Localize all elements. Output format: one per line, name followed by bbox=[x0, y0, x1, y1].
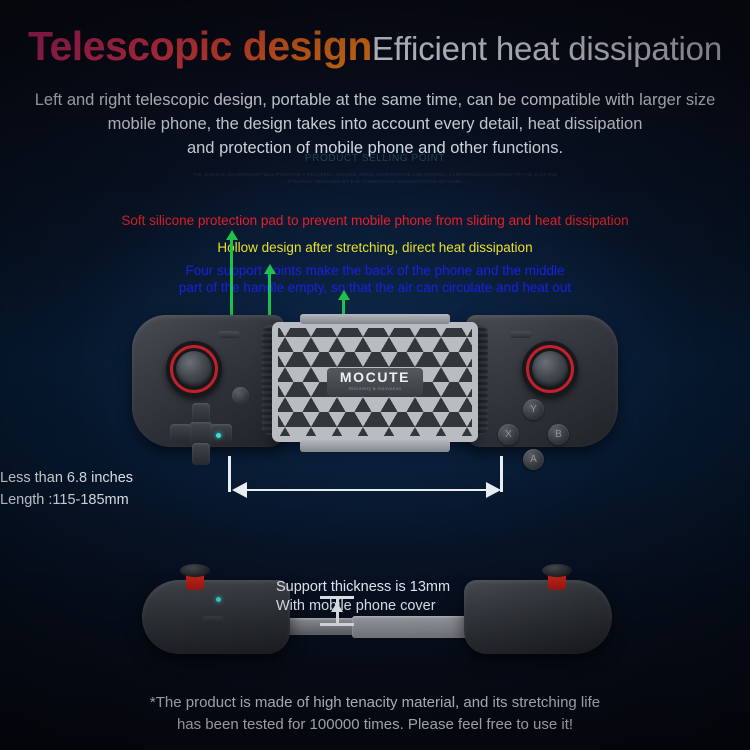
annotation-silicone-pad: Soft silicone protection pad to prevent … bbox=[0, 213, 750, 228]
dimension-tick-left bbox=[228, 456, 231, 492]
brand-plate: MOCUTE Discovery & Innovation bbox=[327, 368, 423, 396]
footer-note: *The product is made of high tenacity ma… bbox=[0, 692, 750, 736]
button-a[interactable]: A bbox=[523, 449, 544, 470]
title-highlight: Telescopic design bbox=[28, 23, 372, 69]
left-start-button[interactable] bbox=[218, 331, 240, 338]
left-analog-stick[interactable] bbox=[166, 341, 222, 397]
bottom-right-stick-cap bbox=[542, 564, 572, 577]
title-rest: Efficient heat dissipation bbox=[372, 30, 722, 67]
right-start-button[interactable] bbox=[510, 331, 532, 338]
bottom-left-grip bbox=[142, 580, 290, 654]
thickness-label: Support thickness is 13mm With mobile ph… bbox=[276, 578, 450, 616]
brand-tagline: Discovery & Innovation bbox=[327, 386, 423, 391]
right-analog-stick[interactable] bbox=[522, 341, 578, 397]
dpad-right[interactable] bbox=[210, 424, 232, 442]
dpad[interactable] bbox=[170, 403, 232, 465]
footer-line-2: has been tested for 100000 times. Please… bbox=[0, 714, 750, 736]
annotation-support-points-line-2: part of the handle empty, so that the ai… bbox=[0, 279, 750, 296]
holder-clamp-top bbox=[300, 314, 450, 324]
description-block: Left and right telescopic design, portab… bbox=[0, 88, 750, 160]
annotation-support-points: Four support points make the back of the… bbox=[0, 262, 750, 296]
thickness-label-line-2: With mobile phone cover bbox=[276, 597, 450, 616]
watermark-heading: PRODUCT SELLING POINT bbox=[0, 153, 750, 164]
left-stick-cap bbox=[176, 351, 212, 387]
dimension-arrow-left bbox=[232, 482, 247, 498]
holder-clamp-bottom bbox=[300, 440, 450, 452]
bottom-holder-plate bbox=[352, 616, 480, 638]
dpad-center bbox=[190, 422, 212, 444]
description-line-2: mobile phone, the design takes into acco… bbox=[0, 112, 750, 136]
bottom-left-stick[interactable] bbox=[180, 564, 210, 594]
brand-name: MOCUTE bbox=[327, 368, 423, 386]
face-button-cluster[interactable]: Y X B A bbox=[498, 399, 570, 471]
right-stick-cap bbox=[532, 351, 568, 387]
watermark-line-1: THE CHINESE GOVERNMENT WILL PUSH FOR A P… bbox=[0, 171, 750, 178]
thickness-label-line-1: Support thickness is 13mm bbox=[276, 578, 450, 597]
button-b[interactable]: B bbox=[548, 424, 569, 445]
bottom-right-stick[interactable] bbox=[542, 564, 572, 594]
status-led bbox=[216, 433, 221, 438]
bottom-left-logo bbox=[202, 616, 224, 623]
right-grip: Y X B A bbox=[466, 315, 618, 447]
dpad-down[interactable] bbox=[192, 443, 210, 465]
dimension-line bbox=[234, 489, 498, 491]
watermark-line-2: STRATEGY RELEASED BY THE CYBERSPACE ADMI… bbox=[0, 178, 750, 185]
dpad-left[interactable] bbox=[170, 424, 192, 442]
button-y[interactable]: Y bbox=[523, 399, 544, 420]
annotation-support-points-line-1: Four support points make the back of the… bbox=[0, 262, 750, 279]
dimension-arrow-right bbox=[486, 482, 501, 498]
left-grip bbox=[132, 315, 284, 447]
page-title: Telescopic designEfficient heat dissipat… bbox=[0, 26, 750, 67]
footer-line-1: *The product is made of high tenacity ma… bbox=[0, 692, 750, 714]
product-infographic: Telescopic designEfficient heat dissipat… bbox=[0, 0, 750, 750]
description-line-1: Left and right telescopic design, portab… bbox=[0, 88, 750, 112]
phone-holder: MOCUTE Discovery & Innovation bbox=[272, 322, 478, 442]
bottom-right-grip bbox=[464, 580, 612, 654]
annotation-hollow-design: Hollow design after stretching, direct h… bbox=[0, 240, 750, 255]
bottom-left-stick-cap bbox=[180, 564, 210, 577]
bottom-status-led bbox=[216, 597, 221, 602]
watermark-paragraph: THE CHINESE GOVERNMENT WILL PUSH FOR A P… bbox=[0, 171, 750, 185]
button-x[interactable]: X bbox=[498, 424, 519, 445]
left-select-button[interactable] bbox=[232, 387, 249, 404]
